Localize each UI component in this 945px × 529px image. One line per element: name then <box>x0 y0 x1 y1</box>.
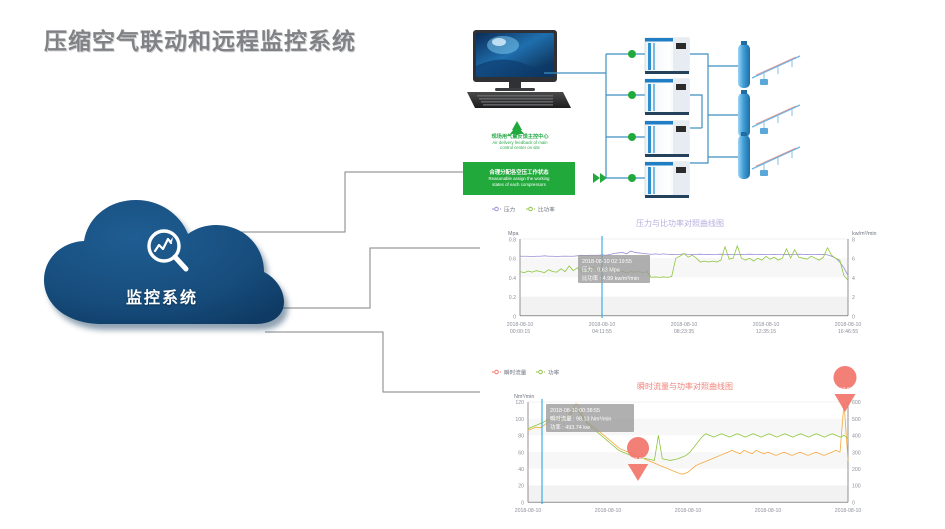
chart2-tooltip: 2018-08-10 00:38:55 瞬时流量 : 98.13 Nm³/min… <box>546 404 634 432</box>
svg-text:2018-08-10: 2018-08-10 <box>835 508 862 514</box>
svg-text:2018-08-10: 2018-08-10 <box>507 322 534 328</box>
magnifier-chart-icon <box>140 224 196 280</box>
svg-text:2018-08-10: 2018-08-10 <box>753 322 780 328</box>
svg-text:6: 6 <box>852 257 855 263</box>
chart1-bands <box>520 239 848 316</box>
pipe-network <box>440 18 945 208</box>
ytick-right-4: 400 <box>852 434 861 440</box>
svg-text:0.8: 0.8 <box>509 238 516 244</box>
ytick-left-6: 120 <box>515 400 524 406</box>
svg-text:0: 0 <box>513 314 516 320</box>
chart-pressure-vs-specific-power[interactable]: 压力 比功率 压力与比功率对照曲线图 Mpa kw/m³/min 0.8 0.6… <box>480 200 880 340</box>
xtick-1: 2018-08-1004:11:55 <box>589 322 616 335</box>
chart2-marker-min-label: 33.87 <box>632 458 645 464</box>
xtick-2: 2018-08-10 <box>675 508 702 514</box>
ytick-left-0: 0 <box>521 500 524 506</box>
xtick-4: 2018-08-1016:46:55 <box>835 322 862 335</box>
ytick-right-5: 500 <box>852 417 861 423</box>
chart1-yaxis-right: 8 6 4 2 0 <box>852 238 855 321</box>
chart2-tooltip-time: 2018-08-10 00:38:55 <box>550 408 600 414</box>
chart1-legend: 压力 比功率 <box>492 205 555 213</box>
svg-text:08:23:35: 08:23:35 <box>674 329 694 335</box>
cloud-label: 监控系统 <box>36 284 288 308</box>
chart1-tooltip-l1: 压力 : 0.63 Mpa <box>582 266 620 274</box>
chart1-legend-0: 压力 <box>504 205 516 213</box>
chart2-marker-max-label: 118.55 <box>837 388 853 394</box>
svg-text:2018-08-10: 2018-08-10 <box>755 508 782 514</box>
chart1-tooltip: 2018-08-10 02:19:55 压力 : 0.63 Mpa 比功率 : … <box>578 255 650 283</box>
xtick-2: 2018-08-1008:23:35 <box>671 322 698 335</box>
svg-text:8: 8 <box>852 238 855 244</box>
xtick-0: 2018-08-10 <box>515 508 542 514</box>
chart1-canvas: 压力 比功率 压力与比功率对照曲线图 Mpa kw/m³/min 0.8 0.6… <box>480 200 880 340</box>
svg-text:12:35:15: 12:35:15 <box>756 329 776 335</box>
chart-flow-vs-power[interactable]: 瞬时流量 功率 瞬时流量与功率对照曲线图 Nm³/min 02040608010… <box>480 363 880 529</box>
chart2-canvas: 瞬时流量 功率 瞬时流量与功率对照曲线图 Nm³/min 02040608010… <box>480 363 880 529</box>
monitoring-cloud[interactable]: 监控系统 <box>36 196 296 336</box>
chart2-title: 瞬时流量与功率对照曲线图 <box>637 381 733 391</box>
chart1-xaxis: 2018-08-1000:00:152018-08-1004:11:552018… <box>507 322 862 335</box>
svg-text:0.4: 0.4 <box>509 276 516 282</box>
ytick-left-4: 80 <box>518 434 524 440</box>
ytick-left-2: 40 <box>518 467 524 473</box>
chart1-legend-1: 比功率 <box>538 205 555 213</box>
chart2-xaxis: 2018-08-102018-08-102018-08-102018-08-10… <box>515 508 862 514</box>
chart2-legend: 瞬时流量 功率 <box>492 368 560 376</box>
svg-text:0.6: 0.6 <box>509 257 516 263</box>
ytick-left-3: 60 <box>518 450 524 456</box>
ytick-right-1: 100 <box>852 484 861 490</box>
svg-text:2018-08-10: 2018-08-10 <box>589 322 616 328</box>
chart1-ylabel-right: kw/m³/min <box>852 231 877 237</box>
svg-text:00:00:15: 00:00:15 <box>510 329 530 335</box>
svg-text:0.2: 0.2 <box>509 295 516 301</box>
svg-text:04:11:55: 04:11:55 <box>592 329 612 335</box>
svg-text:2018-08-10: 2018-08-10 <box>515 508 542 514</box>
svg-text:2018-08-10: 2018-08-10 <box>595 508 622 514</box>
slide-root: 压缩空气联动和远程监控系统 <box>0 0 945 529</box>
system-topology-diagram: 现场用气量反馈主控中心 Air delivery feedback of mai… <box>440 18 945 208</box>
svg-text:2018-08-10: 2018-08-10 <box>675 508 702 514</box>
chart1-ylabel-left: Mpa <box>508 231 519 237</box>
svg-text:4: 4 <box>852 276 855 282</box>
svg-text:2018-08-10: 2018-08-10 <box>835 322 862 328</box>
xtick-3: 2018-08-1012:35:15 <box>753 322 780 335</box>
xtick-4: 2018-08-10 <box>835 508 862 514</box>
ytick-right-3: 300 <box>852 450 861 456</box>
xtick-3: 2018-08-10 <box>755 508 782 514</box>
xtick-0: 2018-08-1000:00:15 <box>507 322 534 335</box>
chart2-tooltip-l2: 功率 : 493.74 kw <box>550 423 590 431</box>
chart2-tooltip-l1: 瞬时流量 : 98.13 Nm³/min <box>550 415 611 423</box>
chart1-title: 压力与比功率对照曲线图 <box>636 218 724 228</box>
svg-text:0: 0 <box>852 314 855 320</box>
svg-text:2018-08-10: 2018-08-10 <box>671 322 698 328</box>
svg-text:2: 2 <box>852 295 855 301</box>
svg-text:16:46:55: 16:46:55 <box>838 329 858 335</box>
chart1-yaxis-left: 0.8 0.6 0.4 0.2 0 <box>509 238 516 321</box>
chart2-legend-0: 瞬时流量 <box>504 368 527 376</box>
ytick-left-5: 100 <box>515 417 524 423</box>
xtick-1: 2018-08-10 <box>595 508 622 514</box>
ytick-right-2: 200 <box>852 467 861 473</box>
chart1-tooltip-l2: 比功率 : 4.99 kw/m³/min <box>582 274 639 282</box>
chart1-tooltip-time: 2018-08-10 02:19:55 <box>582 259 632 265</box>
ytick-right-0: 0 <box>852 500 855 506</box>
chart2-yaxis-left: 020406080100120 <box>515 400 524 506</box>
ytick-right-6: 600 <box>852 400 861 406</box>
chart2-yaxis-right: 0100200300400500600 <box>852 400 861 506</box>
chart2-ylabel-left: Nm³/min <box>514 394 534 400</box>
ytick-left-1: 20 <box>518 484 524 490</box>
chart2-legend-1: 功率 <box>548 368 560 376</box>
